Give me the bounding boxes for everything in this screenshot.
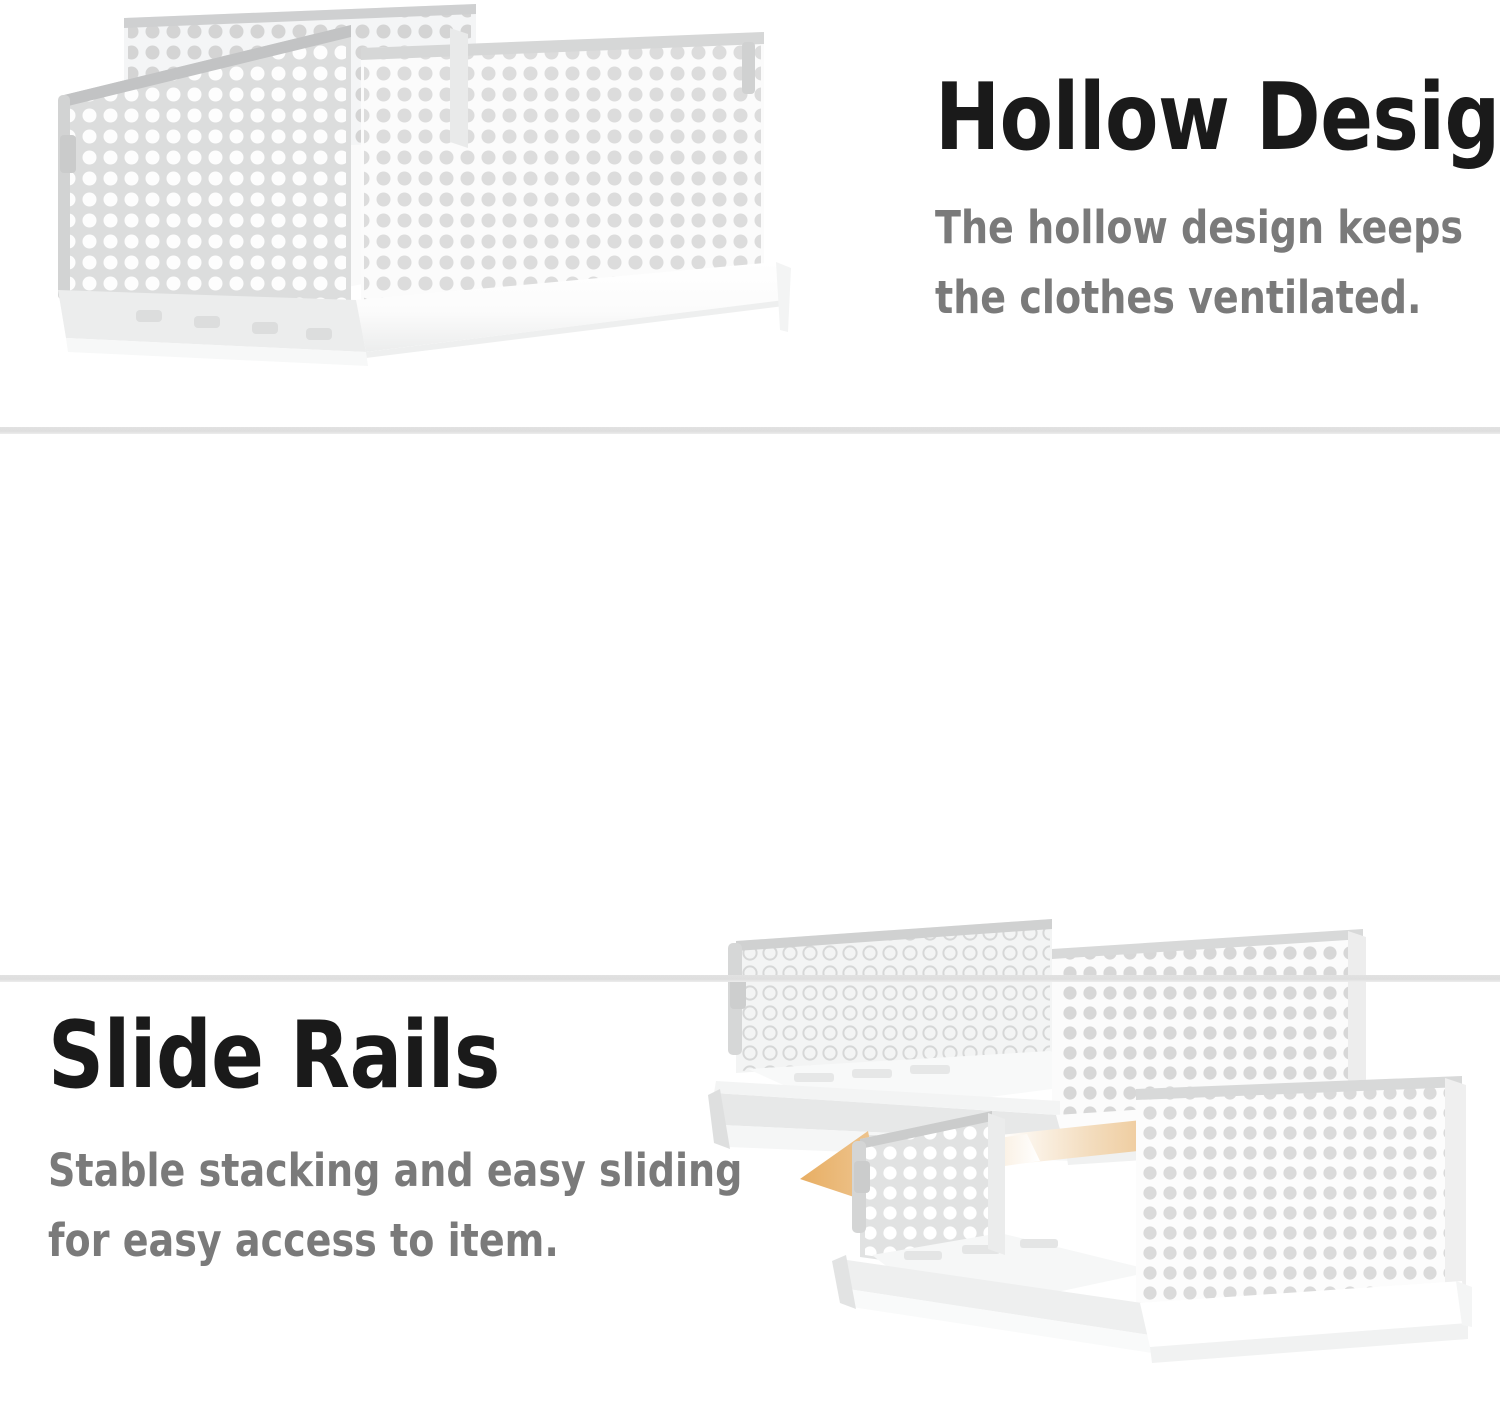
panel-divider-2 (0, 975, 1500, 982)
panel-divider-1 (0, 427, 1500, 434)
storage-basket-perforated-front-view-image (16, 0, 816, 420)
hollow-design-subtext-line-1: The hollow design keeps (935, 193, 1500, 263)
hollow-design-heading: Hollow Design (935, 72, 1500, 162)
basket-corner-post (450, 28, 468, 148)
basket-base-left (58, 290, 368, 366)
hollow-design-subtext-line-2: the clothes ventilated. (935, 263, 1500, 333)
hollow-design-subtext: The hollow design keeps the clothes vent… (935, 193, 1500, 333)
basket-left-panel (56, 20, 366, 320)
panel-reinforced-snap: Reinforced Snap Reinforced buckles to in… (0, 983, 1500, 1410)
hollow-design-text-block: Hollow Design The hollow design keeps th… (935, 72, 1500, 333)
panel-slide-rails: Slide Rails Stable stacking and easy sli… (0, 438, 1500, 975)
panel-hollow-design: Hollow Design The hollow design keeps th… (0, 0, 1500, 430)
product-feature-infographic: Hollow Design The hollow design keeps th… (0, 0, 1500, 1410)
